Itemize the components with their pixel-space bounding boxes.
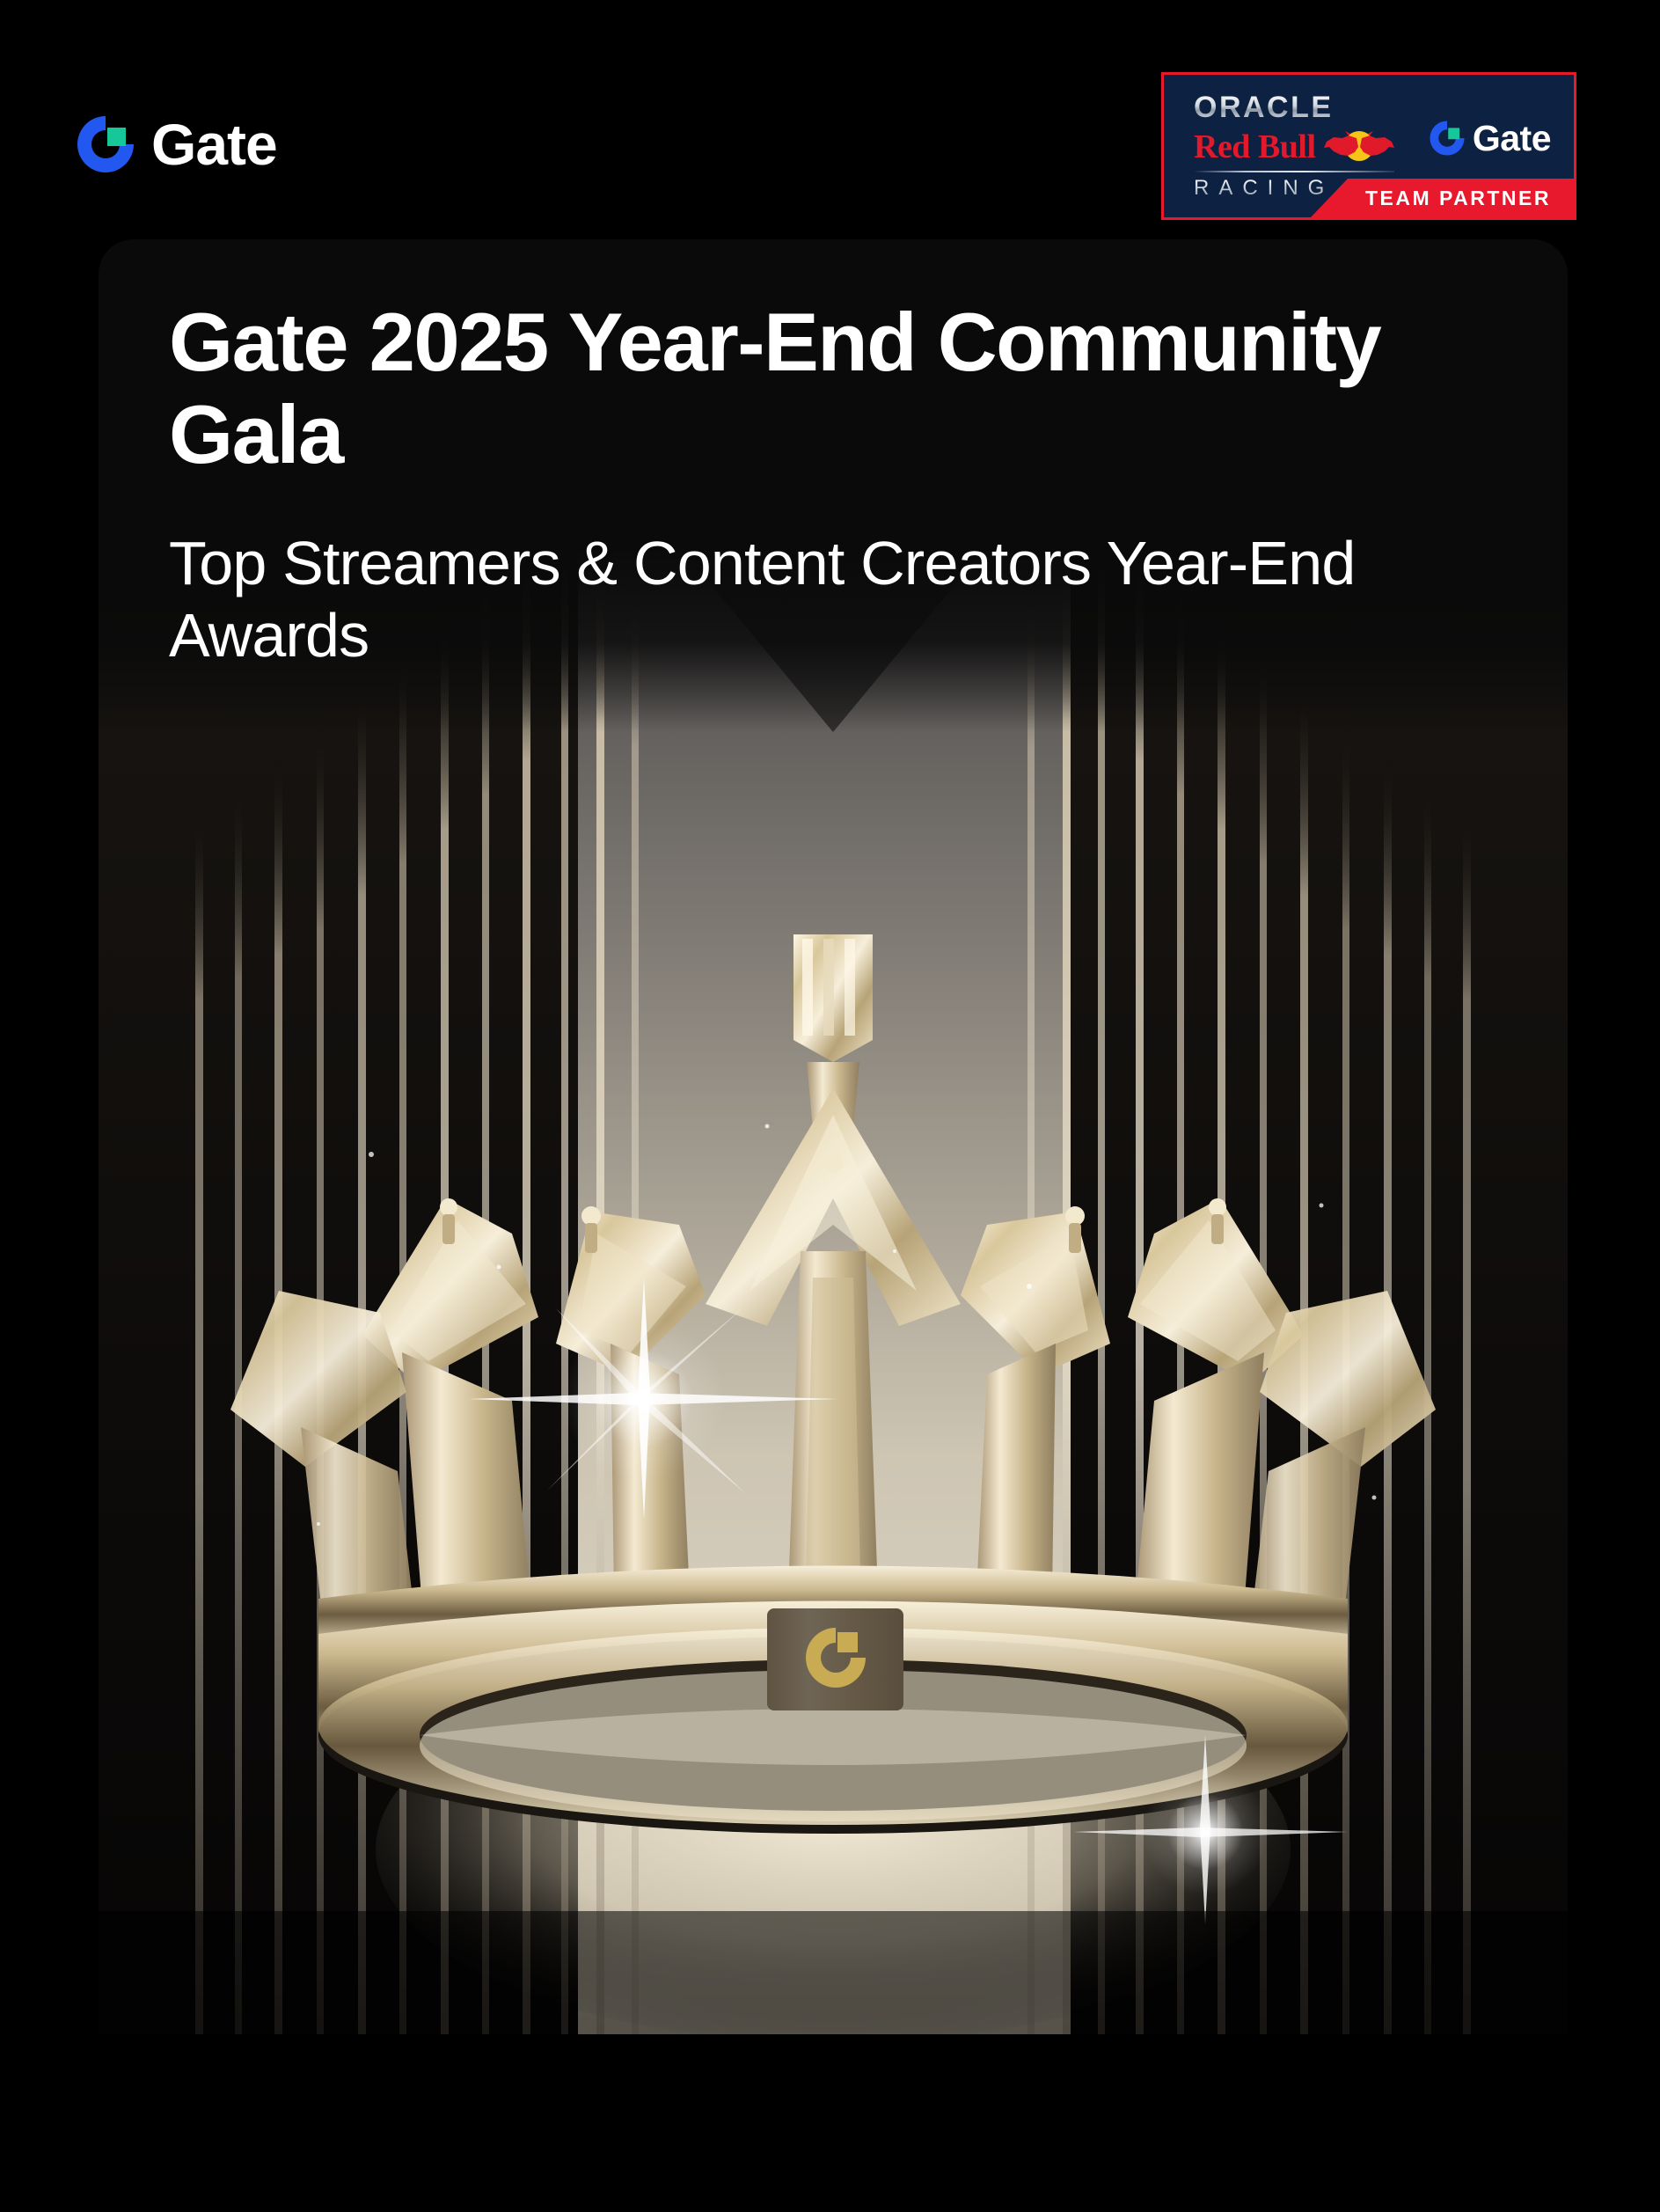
team-partner-label: TEAM PARTNER xyxy=(1365,188,1551,209)
badge-gate-wordmark: Gate xyxy=(1473,121,1551,157)
gate-brand-logo[interactable]: Gate xyxy=(74,113,277,176)
red-bull-label: Red Bull xyxy=(1194,130,1316,164)
gate-logo-icon xyxy=(74,113,137,176)
gate-logo-icon xyxy=(1428,119,1466,157)
team-partner-banner: TEAM PARTNER xyxy=(1311,179,1574,217)
badge-divider xyxy=(1194,171,1394,172)
page-footer-spacer xyxy=(0,2034,1660,2212)
event-card: Gate 2025 Year-End Community Gala Top St… xyxy=(99,239,1568,2034)
page-title: Gate 2025 Year-End Community Gala xyxy=(169,296,1497,481)
page-subtitle: Top Streamers & Content Creators Year-En… xyxy=(169,527,1497,672)
charging-bulls-icon xyxy=(1321,128,1397,166)
page-root: Gate ORACLE Red Bull xyxy=(0,0,1660,2212)
oracle-red-bull-racing-badge-icon[interactable]: ORACLE Red Bull RACING xyxy=(1161,72,1576,220)
badge-gate-logo: Gate xyxy=(1428,119,1551,157)
gate-wordmark: Gate xyxy=(151,115,277,173)
page-header: Gate ORACLE Red Bull xyxy=(0,0,1660,239)
oracle-label: ORACLE xyxy=(1194,92,1394,122)
red-bull-row: Red Bull xyxy=(1194,127,1394,167)
card-text-block: Gate 2025 Year-End Community Gala Top St… xyxy=(99,239,1568,672)
